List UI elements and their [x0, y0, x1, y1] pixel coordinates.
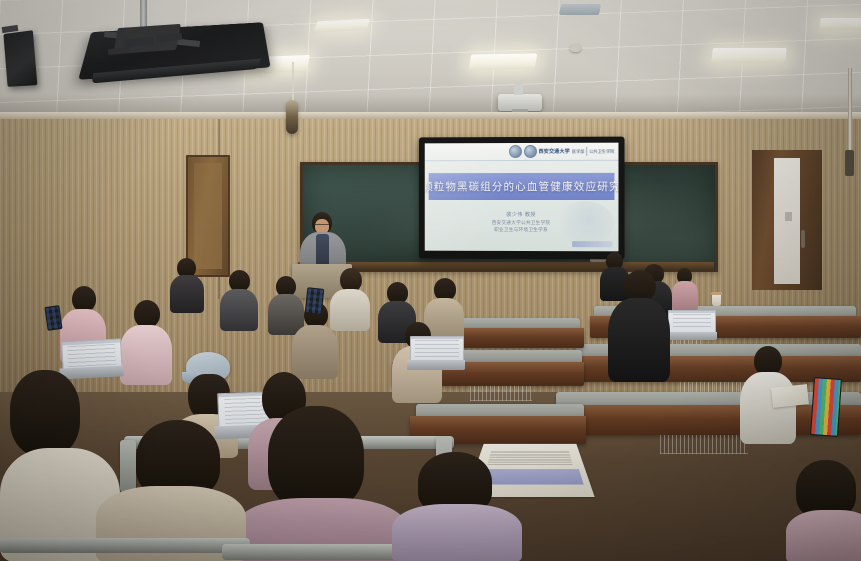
slide-header-sub-left: 医学部 — [572, 148, 585, 154]
ceiling-vent — [559, 4, 601, 15]
paper-coffee-cup — [712, 294, 721, 306]
slide-title: 颗粒物黑碳组分的心血管健康效应研究 — [425, 179, 619, 194]
laptop-screen — [410, 336, 464, 362]
projected-slide: 西安交通大学 医学部 公共卫生学院 颗粒物黑碳组分的心血管健康效应研究 裴少伟 … — [425, 143, 619, 252]
ceiling-panel-light — [469, 53, 538, 69]
laptop-content-lines — [415, 340, 459, 359]
slide-byline: 裴少伟 教授 西安交通大学公共卫生学院 职业卫生与环境卫生学系 — [425, 211, 619, 234]
slide-title-band: 颗粒物黑碳组分的心血管健康效应研究 — [429, 173, 615, 200]
slide-header-rule — [425, 160, 619, 161]
laptop-screen — [668, 310, 716, 334]
rear-door[interactable] — [752, 150, 822, 290]
desk-surface — [410, 416, 586, 427]
hanging-pendant — [286, 100, 298, 134]
audience-member — [608, 270, 670, 380]
slide-wordmark: 西安交通大学 — [539, 148, 570, 155]
smartphone[interactable] — [44, 305, 62, 331]
wall-ceiling-trim — [0, 112, 861, 119]
slide-footer-badge — [572, 241, 612, 247]
vertical-divider-icon — [587, 147, 588, 156]
ceiling-panel-light — [711, 48, 787, 63]
right-rod-fitting — [845, 150, 854, 176]
ceiling-projector — [498, 94, 542, 111]
phone-screen — [46, 306, 62, 330]
torso — [392, 504, 522, 561]
laptop-keyboard[interactable] — [665, 332, 717, 340]
torso — [292, 325, 338, 379]
audience-member — [170, 258, 204, 312]
rear-door-panel — [774, 158, 800, 284]
laptop[interactable] — [410, 336, 462, 370]
torso — [220, 289, 258, 331]
school-seal-icon — [524, 145, 537, 158]
torso — [120, 325, 172, 385]
head — [10, 370, 80, 456]
laptop-titlebar — [669, 311, 715, 313]
torso — [170, 275, 204, 313]
audience-member — [120, 300, 172, 384]
slide-affiliation-dept: 职业卫生与环境卫生学系 — [425, 226, 619, 234]
wall-speaker — [3, 30, 37, 87]
slide-header: 西安交通大学 医学部 公共卫生学院 — [425, 143, 619, 161]
laptop-titlebar — [411, 337, 463, 339]
bench-rail-foreground — [0, 538, 250, 553]
head — [268, 406, 364, 510]
slide-header-sub-right: 公共卫生学院 — [589, 148, 614, 154]
audience-member-foreground — [392, 452, 522, 561]
torso — [672, 281, 698, 311]
presenter-shirt — [316, 234, 329, 268]
pendant-wire — [292, 62, 294, 102]
torso — [786, 510, 861, 561]
door-handle[interactable] — [801, 230, 805, 248]
ceiling-panel-light — [820, 18, 861, 30]
laptop[interactable] — [668, 310, 714, 340]
slide-presenter-name: 裴少伟 教授 — [425, 211, 619, 219]
printed-handout — [771, 384, 809, 408]
audience-member — [220, 270, 258, 330]
phone-home-screen — [811, 378, 841, 436]
smoke-detector-icon — [570, 44, 581, 52]
door-plate — [785, 212, 792, 221]
phone-screen — [306, 288, 323, 313]
smartphone[interactable] — [305, 287, 325, 315]
laptop-keyboard[interactable] — [407, 360, 465, 370]
torso — [608, 298, 670, 382]
side-door-panel — [194, 163, 222, 269]
lecture-hall-photo: 西安交通大学 医学部 公共卫生学院 颗粒物黑碳组分的心血管健康效应研究 裴少伟 … — [0, 0, 861, 561]
smartphone[interactable] — [810, 377, 842, 437]
projection-screen: 西安交通大学 医学部 公共卫生学院 颗粒物黑碳组分的心血管健康效应研究 裴少伟 … — [419, 137, 625, 260]
torso — [740, 372, 796, 444]
head — [134, 300, 160, 328]
laptop-content-lines — [67, 344, 117, 367]
audience-member-foreground — [236, 406, 406, 561]
university-seal-icon — [509, 145, 522, 158]
laptop-content-lines — [673, 314, 712, 330]
audience-member-foreground — [786, 460, 861, 561]
presenter-glasses — [315, 224, 329, 225]
under-desk-basket — [660, 435, 748, 454]
under-desk-basket — [470, 386, 532, 401]
audience-member — [672, 268, 698, 310]
